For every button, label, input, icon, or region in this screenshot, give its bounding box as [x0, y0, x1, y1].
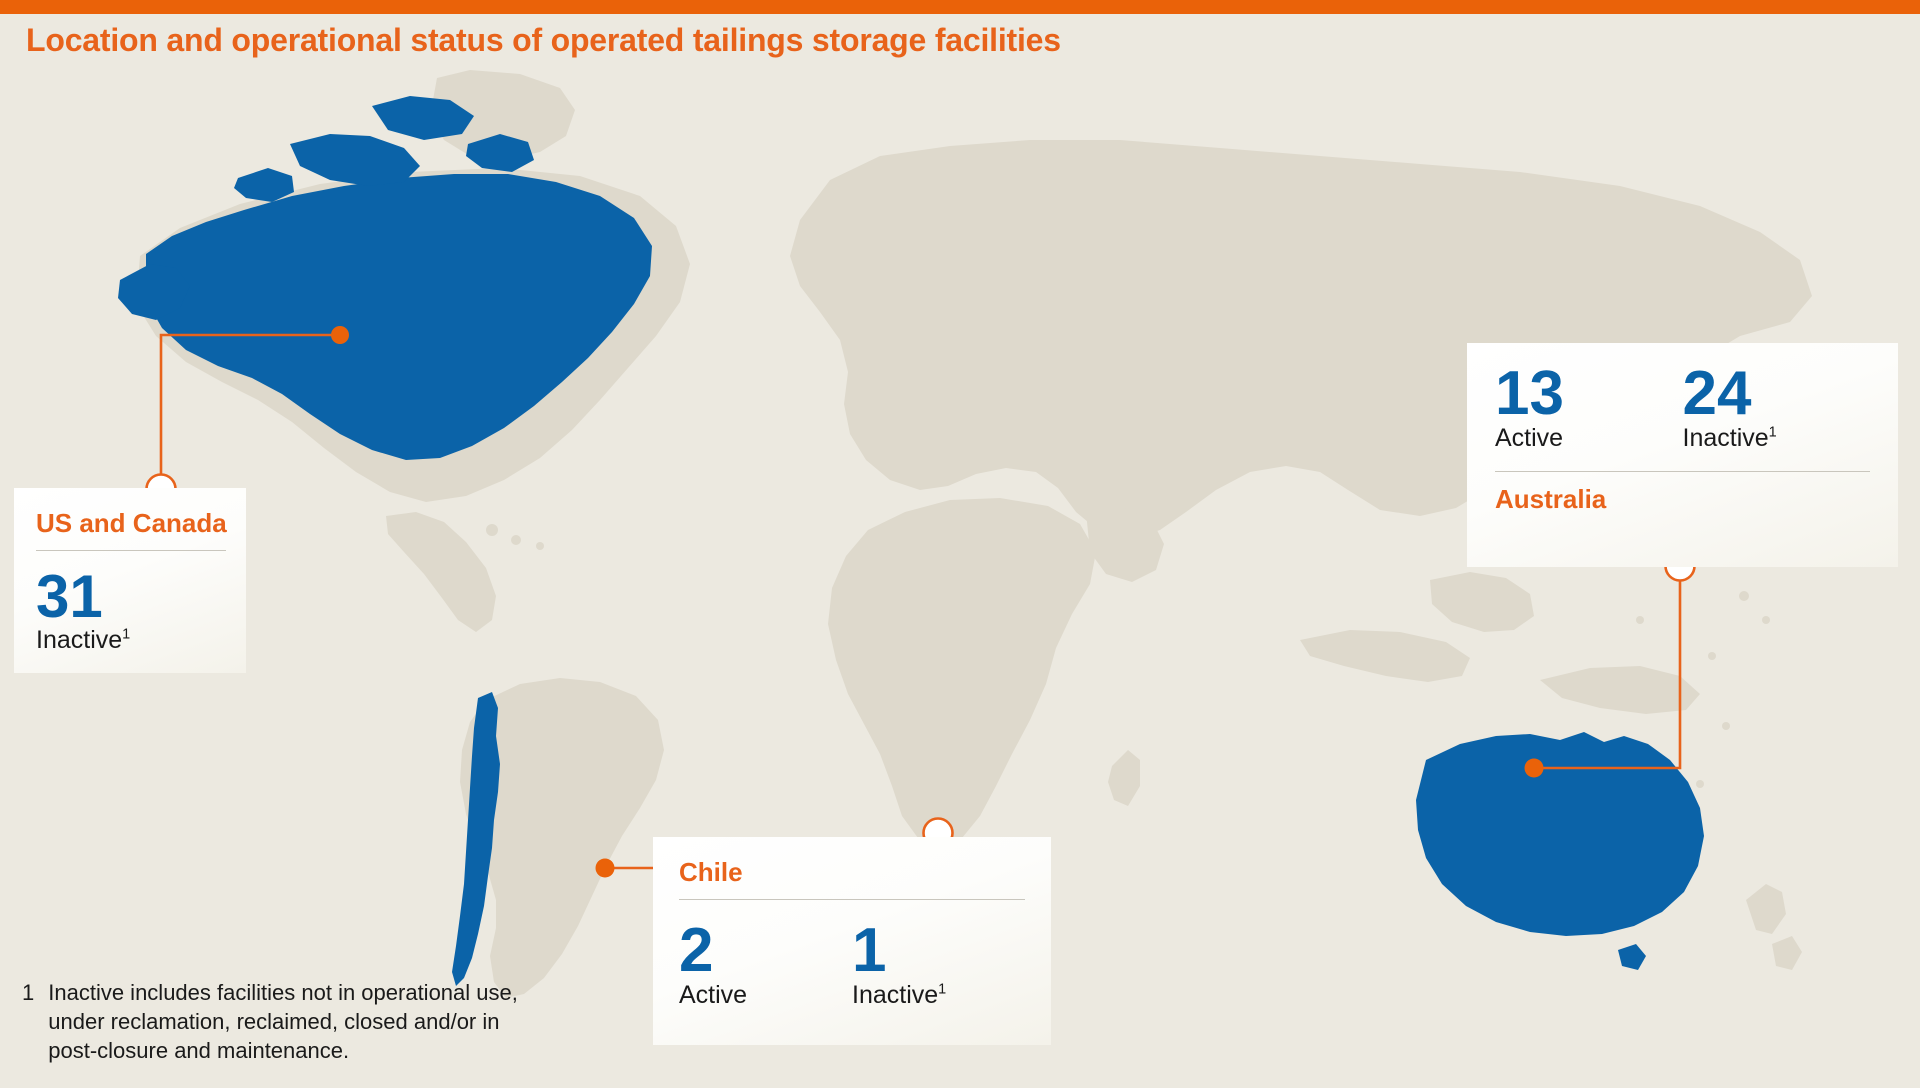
stat-value: 24: [1683, 363, 1871, 425]
stat-label-text: Inactive: [36, 626, 122, 654]
callout-card-australia[interactable]: 13 Active 24 Inactive1 Australia: [1467, 343, 1898, 567]
callout-rule-us-canada: [36, 550, 226, 551]
callout-stats-us-canada: 31 Inactive1: [36, 567, 226, 655]
stat-chile-inactive: 1 Inactive1: [852, 920, 1025, 1010]
stat-value: 31: [36, 567, 130, 627]
footnote-ref: 1: [122, 627, 130, 643]
footnote-marker: 1: [22, 978, 34, 1065]
stat-label-text: Active: [1495, 424, 1563, 452]
footnote-text: Inactive includes facilities not in oper…: [48, 978, 552, 1065]
stat-label: Active: [679, 982, 852, 1010]
callout-stats-chile: 2 Active 1 Inactive1: [679, 920, 1025, 1010]
callout-card-us-canada[interactable]: US and Canada 31 Inactive1: [14, 488, 246, 673]
callout-rule-australia: [1495, 471, 1870, 472]
stat-value: 13: [1495, 363, 1683, 425]
stat-value: 2: [679, 920, 852, 982]
infographic-page: Location and operational status of opera…: [0, 0, 1920, 1088]
stat-label: Active: [1495, 425, 1683, 453]
footnote-ref: 1: [1769, 425, 1777, 441]
footnote-ref: 1: [938, 982, 946, 998]
callout-card-chile[interactable]: Chile 2 Active 1 Inactive1: [653, 837, 1051, 1045]
footnote: 1 Inactive includes facilities not in op…: [22, 978, 552, 1065]
callout-stats-australia: 13 Active 24 Inactive1: [1495, 363, 1870, 453]
top-accent-bar: [0, 0, 1920, 14]
stat-australia-inactive: 24 Inactive1: [1683, 363, 1871, 453]
stat-label-text: Inactive: [1683, 424, 1769, 452]
callout-title-us-canada: US and Canada: [36, 510, 226, 536]
stat-us-canada-inactive: 31 Inactive1: [36, 567, 130, 655]
stat-label: Inactive1: [1683, 425, 1871, 453]
stat-value: 1: [852, 920, 1025, 982]
stat-chile-active: 2 Active: [679, 920, 852, 1010]
page-title: Location and operational status of opera…: [26, 22, 1061, 59]
stat-australia-active: 13 Active: [1495, 363, 1683, 453]
callout-title-chile: Chile: [679, 859, 1025, 885]
stat-label: Inactive1: [852, 982, 1025, 1010]
stat-label-text: Inactive: [852, 981, 938, 1009]
stat-label: Inactive1: [36, 627, 130, 655]
callout-title-australia: Australia: [1495, 486, 1870, 512]
callout-rule-chile: [679, 899, 1025, 900]
stat-label-text: Active: [679, 981, 747, 1009]
